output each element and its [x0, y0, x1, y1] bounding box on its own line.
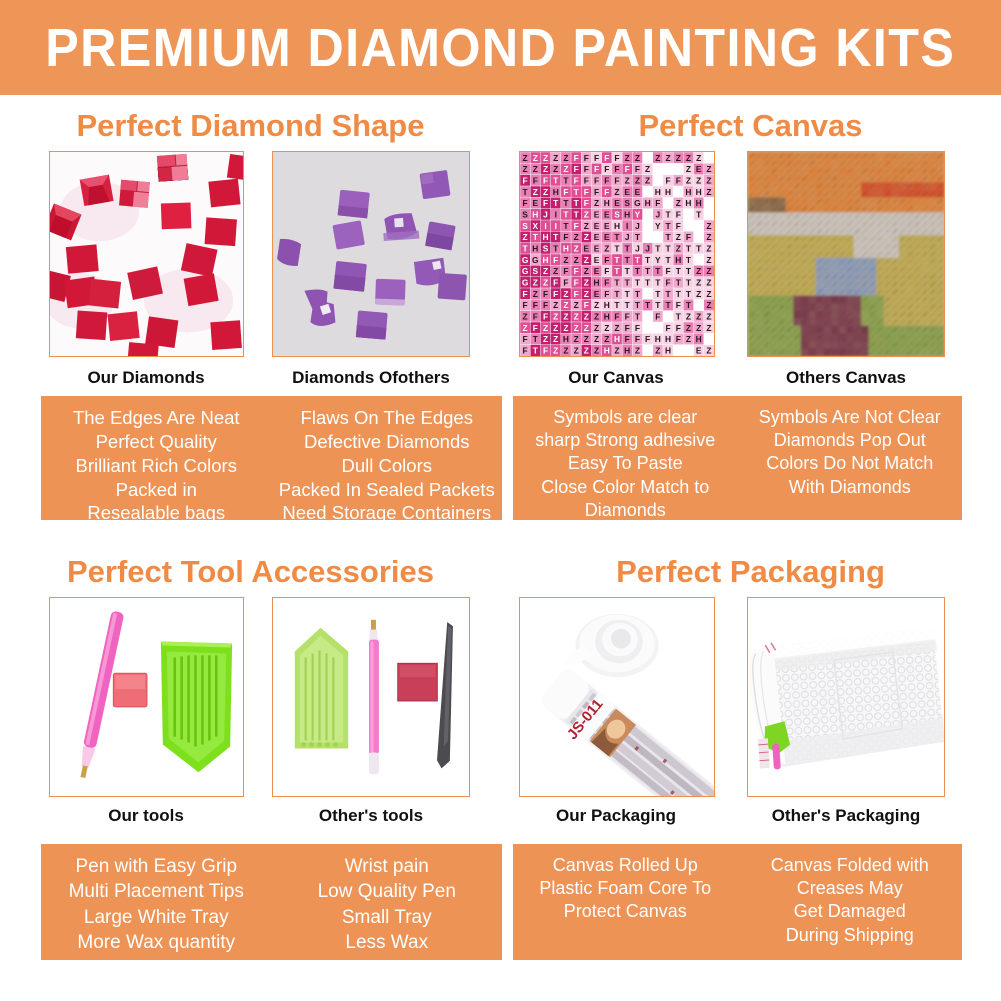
svg-text:Z: Z [604, 323, 609, 333]
svg-text:F: F [614, 176, 619, 186]
svg-text:Z: Z [696, 278, 701, 288]
svg-text:S: S [533, 266, 539, 276]
svg-text:Z: Z [574, 323, 579, 333]
svg-text:F: F [584, 176, 589, 186]
svg-text:F: F [563, 187, 568, 197]
svg-text:T: T [665, 312, 671, 322]
svg-text:Z: Z [696, 289, 701, 299]
svg-text:F: F [665, 323, 670, 333]
caption-other-tools: Other's tools [270, 806, 472, 826]
svg-text:Z: Z [686, 153, 691, 163]
svg-text:G: G [522, 266, 529, 276]
svg-text:Z: Z [533, 278, 538, 288]
svg-text:F: F [553, 278, 558, 288]
svg-text:F: F [676, 323, 681, 333]
svg-text:Z: Z [696, 176, 701, 186]
svg-text:T: T [655, 278, 661, 288]
svg-text:H: H [542, 232, 548, 242]
svg-text:Z: Z [584, 210, 589, 220]
svg-text:F: F [523, 346, 528, 356]
infographic-page: PREMIUM DIAMOND PAINTING KITS Perfect Di… [0, 0, 1001, 1001]
svg-text:Z: Z [594, 346, 599, 356]
svg-text:Z: Z [553, 323, 558, 333]
panel-line: The Edges Are Neat [73, 406, 240, 430]
svg-text:Z: Z [563, 323, 568, 333]
svg-text:H: H [685, 210, 691, 220]
svg-text:T: T [614, 278, 620, 288]
svg-text:Z: Z [614, 187, 619, 197]
svg-text:F: F [625, 334, 630, 344]
blurry-canvas-photo [747, 151, 945, 357]
panel-line: Small Tray [342, 905, 432, 930]
panel-line: Brilliant Rich Colors [76, 454, 237, 478]
svg-text:E: E [594, 255, 600, 265]
svg-text:H: H [594, 278, 600, 288]
caption-other-packaging: Other's Packaging [745, 806, 947, 826]
svg-text:Z: Z [543, 323, 548, 333]
svg-text:J: J [656, 232, 661, 242]
svg-text:Z: Z [706, 232, 711, 242]
svg-text:F: F [665, 198, 670, 208]
comparison-panel-tools: Pen with Easy GripMulti Placement TipsLa… [41, 844, 502, 960]
svg-text:E: E [604, 210, 610, 220]
page-title: PREMIUM DIAMOND PAINTING KITS [45, 17, 955, 79]
svg-text:S: S [522, 221, 528, 231]
panel-line: Perfect Quality [96, 430, 217, 454]
panel-line: Less Wax [345, 930, 428, 955]
svg-text:E: E [696, 346, 702, 356]
svg-text:F: F [635, 334, 640, 344]
panel-column-others: Wrist painLow Quality PenSmall TrayLess … [272, 854, 503, 948]
svg-text:T: T [665, 289, 671, 299]
header-banner: PREMIUM DIAMOND PAINTING KITS [0, 0, 1001, 95]
svg-text:F: F [533, 300, 538, 310]
svg-text:T: T [553, 176, 559, 186]
svg-text:T: T [563, 198, 569, 208]
svg-text:Z: Z [706, 255, 711, 265]
svg-text:F: F [604, 187, 609, 197]
svg-text:F: F [604, 289, 609, 299]
panel-column-others: Symbols Are Not ClearDiamonds Pop OutCol… [738, 406, 963, 508]
svg-text:E: E [675, 346, 681, 356]
svg-text:F: F [543, 312, 548, 322]
svg-text:H: H [655, 187, 661, 197]
purple-deformed-diamonds-photo [272, 151, 470, 357]
svg-text:T: T [574, 187, 580, 197]
svg-text:F: F [584, 153, 589, 163]
section-title-tool-accessories: Perfect Tool Accessories [0, 554, 501, 590]
svg-text:T: T [625, 278, 631, 288]
svg-text:F: F [594, 164, 599, 174]
svg-text:F: F [574, 164, 579, 174]
svg-text:F: F [665, 278, 670, 288]
svg-text:H: H [614, 221, 620, 231]
svg-text:T: T [686, 255, 692, 265]
svg-text:Z: Z [543, 187, 548, 197]
svg-text:F: F [543, 346, 548, 356]
svg-text:Z: Z [635, 153, 640, 163]
svg-text:F: F [676, 300, 681, 310]
svg-text:F: F [543, 289, 548, 299]
svg-text:H: H [624, 346, 630, 356]
svg-text:Z: Z [584, 346, 589, 356]
svg-text:E: E [533, 198, 539, 208]
svg-text:T: T [533, 334, 539, 344]
rolled-canvas-tube-photo: JS-011 [519, 597, 715, 797]
svg-text:E: E [594, 232, 600, 242]
svg-text:F: F [665, 176, 670, 186]
svg-text:F: F [594, 176, 599, 186]
svg-text:G: G [522, 278, 529, 288]
panel-line: More Wax quantity [77, 930, 235, 955]
svg-text:Z: Z [533, 164, 538, 174]
svg-text:T: T [686, 266, 692, 276]
svg-text:Z: Z [635, 176, 640, 186]
svg-text:T: T [665, 210, 671, 220]
svg-text:G: G [532, 255, 539, 265]
svg-text:J: J [645, 232, 650, 242]
svg-text:F: F [594, 187, 599, 197]
svg-text:Z: Z [676, 244, 681, 254]
svg-text:T: T [635, 278, 641, 288]
svg-text:Z: Z [655, 176, 660, 186]
svg-text:Z: Z [706, 300, 711, 310]
svg-text:H: H [604, 300, 610, 310]
svg-text:F: F [574, 278, 579, 288]
comparison-panel-canvas: Symbols are clearsharp Strong adhesiveEa… [513, 396, 962, 520]
svg-text:H: H [563, 244, 569, 254]
svg-text:F: F [604, 176, 609, 186]
svg-text:E: E [645, 187, 651, 197]
svg-text:T: T [645, 266, 651, 276]
svg-text:Z: Z [533, 153, 538, 163]
svg-text:T: T [574, 198, 580, 208]
svg-text:Z: Z [563, 312, 568, 322]
svg-text:T: T [563, 221, 569, 231]
svg-text:Z: Z [686, 164, 691, 174]
svg-text:Z: Z [543, 334, 548, 344]
svg-text:T: T [645, 255, 651, 265]
svg-text:T: T [635, 255, 641, 265]
panel-line: Pen with Easy Grip [75, 854, 237, 879]
svg-text:E: E [614, 198, 620, 208]
svg-text:Z: Z [574, 346, 579, 356]
svg-text:T: T [665, 255, 671, 265]
svg-text:T: T [655, 300, 661, 310]
svg-text:F: F [543, 300, 548, 310]
svg-text:Z: Z [706, 266, 711, 276]
svg-text:Z: Z [655, 164, 660, 174]
svg-text:Z: Z [553, 312, 558, 322]
svg-text:H: H [614, 334, 620, 344]
svg-text:F: F [604, 153, 609, 163]
svg-text:T: T [563, 176, 569, 186]
svg-text:T: T [563, 210, 569, 220]
svg-text:T: T [574, 210, 580, 220]
svg-text:Z: Z [625, 176, 630, 186]
svg-text:Z: Z [614, 323, 619, 333]
svg-text:Y: Y [655, 255, 661, 265]
svg-text:T: T [625, 255, 631, 265]
svg-text:E: E [594, 210, 600, 220]
svg-text:H: H [685, 221, 691, 231]
panel-line: Canvas Folded with [771, 854, 929, 877]
svg-text:Z: Z [706, 323, 711, 333]
svg-text:Z: Z [533, 289, 538, 299]
svg-text:F: F [676, 334, 681, 344]
svg-text:Z: Z [563, 300, 568, 310]
svg-text:H: H [604, 312, 610, 322]
svg-text:F: F [645, 312, 650, 322]
svg-text:Z: Z [696, 153, 701, 163]
svg-text:Z: Z [706, 176, 711, 186]
svg-text:Z: Z [645, 176, 650, 186]
svg-text:T: T [686, 300, 692, 310]
svg-text:F: F [553, 255, 558, 265]
svg-text:Z: Z [533, 187, 538, 197]
svg-text:S: S [543, 244, 549, 254]
svg-text:E: E [594, 266, 600, 276]
panel-line: Diamonds [585, 499, 666, 522]
svg-text:T: T [553, 244, 559, 254]
svg-text:Z: Z [696, 312, 701, 322]
svg-text:I: I [646, 210, 648, 220]
svg-text:Z: Z [543, 153, 548, 163]
panel-line: Symbols Are Not Clear [759, 406, 941, 429]
svg-text:T: T [645, 278, 651, 288]
svg-text:F: F [584, 198, 589, 208]
svg-text:S: S [522, 210, 528, 220]
panel-line: Low Quality Pen [318, 879, 456, 904]
panel-line: Diamonds Pop Out [774, 429, 926, 452]
svg-text:T: T [676, 278, 682, 288]
svg-text:Z: Z [706, 312, 711, 322]
svg-text:X: X [533, 221, 539, 231]
svg-text:Z: Z [584, 334, 589, 344]
svg-text:H: H [542, 255, 548, 265]
svg-text:T: T [676, 289, 682, 299]
svg-text:F: F [563, 232, 568, 242]
svg-text:T: T [635, 266, 641, 276]
svg-text:Z: Z [706, 221, 711, 231]
svg-text:Z: Z [584, 232, 589, 242]
svg-text:Z: Z [696, 266, 701, 276]
svg-text:Y: Y [655, 221, 661, 231]
svg-text:F: F [533, 312, 538, 322]
svg-text:E: E [624, 187, 630, 197]
svg-text:T: T [553, 232, 559, 242]
svg-text:H: H [655, 334, 661, 344]
svg-text:Z: Z [563, 164, 568, 174]
svg-text:Z: Z [706, 164, 711, 174]
svg-text:H: H [665, 334, 671, 344]
svg-text:Y: Y [645, 221, 651, 231]
panel-line: During Shipping [786, 924, 914, 947]
panel-line: Get Damaged [794, 900, 906, 923]
svg-text:T: T [696, 232, 702, 242]
panel-column-ours: Canvas Rolled UpPlastic Foam Core ToProt… [513, 854, 738, 948]
panel-line: sharp Strong adhesive [535, 429, 715, 452]
svg-text:F: F [614, 312, 619, 322]
svg-text:S: S [614, 210, 620, 220]
caption-other-diamonds: Diamonds Ofothers [270, 368, 472, 388]
svg-text:F: F [523, 300, 528, 310]
panel-line: Defective Diamonds [304, 430, 470, 454]
svg-text:F: F [676, 221, 681, 231]
svg-text:T: T [696, 255, 702, 265]
svg-text:I: I [544, 221, 546, 231]
svg-text:Z: Z [594, 312, 599, 322]
svg-text:Z: Z [523, 232, 528, 242]
bubble-mailer-photo [747, 597, 945, 797]
svg-text:F: F [645, 334, 650, 344]
svg-text:T: T [614, 255, 620, 265]
svg-text:F: F [563, 278, 568, 288]
svg-text:T: T [614, 300, 620, 310]
panel-column-ours: Symbols are clearsharp Strong adhesiveEa… [513, 406, 738, 508]
svg-text:F: F [665, 266, 670, 276]
svg-text:Z: Z [686, 312, 691, 322]
svg-text:F: F [523, 289, 528, 299]
svg-text:Z: Z [706, 198, 711, 208]
svg-text:I: I [555, 210, 557, 220]
svg-text:T: T [665, 232, 671, 242]
svg-text:T: T [686, 244, 692, 254]
svg-text:T: T [665, 244, 671, 254]
panel-line: Protect Canvas [564, 900, 687, 923]
svg-text:J: J [635, 221, 640, 231]
panel-line: Symbols are clear [553, 406, 697, 429]
svg-text:Z: Z [686, 176, 691, 186]
panel-line: Large White Tray [84, 905, 229, 930]
svg-text:T: T [553, 198, 559, 208]
svg-text:Z: Z [594, 323, 599, 333]
svg-text:Z: Z [523, 153, 528, 163]
svg-text:Z: Z [706, 210, 711, 220]
svg-text:T: T [635, 300, 641, 310]
panel-line: Easy To Paste [568, 452, 683, 475]
svg-text:Z: Z [553, 266, 558, 276]
svg-text:T: T [614, 244, 620, 254]
svg-text:F: F [655, 198, 660, 208]
svg-text:T: T [625, 300, 631, 310]
svg-text:T: T [625, 266, 631, 276]
svg-text:Z: Z [686, 334, 691, 344]
svg-text:T: T [635, 312, 641, 322]
svg-text:T: T [676, 266, 682, 276]
svg-text:F: F [676, 210, 681, 220]
red-square-diamonds-photo [49, 151, 244, 357]
svg-text:H: H [563, 334, 569, 344]
svg-text:F: F [523, 176, 528, 186]
svg-text:T: T [645, 300, 651, 310]
svg-text:J: J [543, 210, 548, 220]
svg-text:Z: Z [604, 244, 609, 254]
panel-line: Wrist pain [345, 854, 429, 879]
svg-text:T: T [645, 289, 651, 299]
svg-text:F: F [625, 164, 630, 174]
svg-text:H: H [696, 187, 702, 197]
svg-text:E: E [594, 244, 600, 254]
svg-text:E: E [604, 221, 610, 231]
svg-text:F: F [625, 323, 630, 333]
panel-column-others: Flaws On The EdgesDefective DiamondsDull… [272, 406, 503, 508]
svg-text:T: T [523, 187, 529, 197]
svg-text:T: T [625, 244, 631, 254]
svg-text:E: E [594, 289, 600, 299]
panel-line: Dull Colors [342, 454, 432, 478]
svg-text:F: F [574, 289, 579, 299]
svg-text:H: H [665, 346, 671, 356]
svg-text:E: E [706, 153, 712, 163]
svg-text:Z: Z [614, 346, 619, 356]
svg-text:Z: Z [553, 346, 558, 356]
svg-text:E: E [696, 164, 702, 174]
svg-text:F: F [574, 176, 579, 186]
svg-text:Z: Z [523, 323, 528, 333]
svg-text:H: H [665, 187, 671, 197]
svg-text:Z: Z [553, 300, 558, 310]
section-title-diamond-shape: Perfect Diamond Shape [0, 108, 501, 144]
svg-text:Y: Y [635, 210, 641, 220]
svg-text:E: E [604, 232, 610, 242]
svg-text:F: F [655, 312, 660, 322]
svg-text:I: I [626, 221, 628, 231]
svg-text:F: F [635, 323, 640, 333]
svg-text:F: F [625, 312, 630, 322]
svg-text:F: F [604, 266, 609, 276]
svg-text:T: T [655, 244, 661, 254]
svg-text:T: T [686, 289, 692, 299]
svg-text:Z: Z [584, 255, 589, 265]
svg-text:F: F [645, 153, 650, 163]
svg-text:S: S [686, 346, 692, 356]
svg-text:Z: Z [665, 164, 670, 174]
svg-text:Z: Z [553, 334, 558, 344]
svg-text:T: T [614, 266, 620, 276]
svg-text:Z: Z [574, 300, 579, 310]
panel-column-ours: The Edges Are NeatPerfect QualityBrillia… [41, 406, 272, 508]
svg-text:F: F [584, 187, 589, 197]
svg-text:F: F [604, 255, 609, 265]
section-title-canvas: Perfect Canvas [500, 108, 1001, 144]
svg-text:Z: Z [584, 312, 589, 322]
panel-line: Plastic Foam Core To [539, 877, 711, 900]
svg-text:F: F [614, 164, 619, 174]
svg-text:F: F [584, 300, 589, 310]
svg-text:T: T [696, 221, 702, 231]
svg-text:T: T [533, 346, 539, 356]
comparison-panel-diamonds: The Edges Are NeatPerfect QualityBrillia… [41, 396, 502, 520]
svg-text:H: H [553, 187, 559, 197]
svg-text:F: F [686, 232, 691, 242]
svg-text:F: F [604, 278, 609, 288]
svg-text:Z: Z [584, 221, 589, 231]
svg-text:T: T [625, 289, 631, 299]
svg-text:H: H [532, 210, 538, 220]
svg-text:H: H [604, 198, 610, 208]
svg-text:Z: Z [706, 346, 711, 356]
svg-text:H: H [685, 187, 691, 197]
svg-text:Z: Z [543, 266, 548, 276]
svg-text:F: F [604, 164, 609, 174]
our-tools-photo [49, 597, 244, 797]
svg-text:Z: Z [696, 300, 701, 310]
svg-text:Z: Z [563, 153, 568, 163]
panel-line: Multi Placement Tips [69, 879, 244, 904]
svg-text:F: F [523, 334, 528, 344]
svg-text:Z: Z [625, 153, 630, 163]
